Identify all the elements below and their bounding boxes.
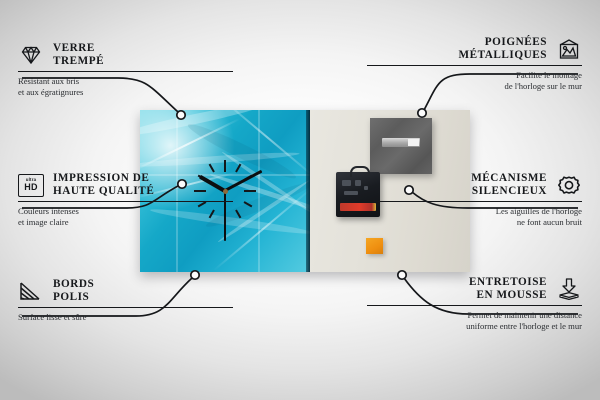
feature-print: ultra HD IMPRESSION DEHAUTE QUALITÉ Coul… [18, 172, 233, 227]
feature-handles-rule [367, 65, 582, 66]
gear-icon [556, 173, 582, 197]
feature-mechanism-rule [367, 201, 582, 202]
feature-glass-desc: Résistant aux briset aux égratignures [18, 76, 233, 97]
feature-edges-desc: Surface lisse et sûre [18, 312, 233, 322]
metal-handle-swatch [370, 118, 432, 174]
feature-spacer-rule [367, 305, 582, 306]
metallic-handle [382, 138, 420, 147]
ultra-hd-icon: ultra HD [18, 173, 44, 197]
feature-mechanism-title: MÉCANISMESILENCIEUX [471, 172, 547, 198]
mechanism-detail [355, 180, 361, 186]
feature-spacer-desc: Permet de maintenir une distanceuniforme… [367, 310, 582, 331]
feature-mechanism: MÉCANISMESILENCIEUX Les aiguilles de l'h… [367, 172, 582, 227]
feature-edges-title: BORDSPOLIS [53, 278, 94, 304]
feature-edges-rule [18, 307, 233, 308]
diamond-icon [18, 43, 44, 67]
feature-print-title: IMPRESSION DEHAUTE QUALITÉ [53, 172, 154, 198]
feature-spacer: ENTRETOISEEN MOUSSE Permet de maintenir … [367, 276, 582, 331]
feature-handles-desc: Facilite le montagede l'horloge sur le m… [367, 70, 582, 91]
ultra-hd-badge: ultra HD [18, 174, 44, 197]
feature-handles-title: POIGNÉESMÉTALLIQUES [458, 36, 547, 62]
feature-glass-title: VERRETREMPÉ [53, 42, 104, 68]
polished-edge-icon [18, 279, 44, 303]
foam-spacer [366, 238, 383, 254]
arrow-down-layers-icon [556, 277, 582, 301]
infographic-canvas: VERRETREMPÉ Résistant aux briset aux égr… [0, 0, 600, 400]
feature-handles-header: POIGNÉESMÉTALLIQUES [367, 36, 582, 62]
mechanism-detail [342, 180, 351, 186]
mechanism-detail [344, 191, 358, 195]
feature-glass: VERRETREMPÉ Résistant aux briset aux égr… [18, 42, 233, 97]
feature-mechanism-header: MÉCANISMESILENCIEUX [367, 172, 582, 198]
feature-spacer-title: ENTRETOISEEN MOUSSE [469, 276, 547, 302]
feature-glass-header: VERRETREMPÉ [18, 42, 233, 68]
feature-glass-rule [18, 71, 233, 72]
feature-spacer-header: ENTRETOISEEN MOUSSE [367, 276, 582, 302]
feature-print-header: ultra HD IMPRESSION DEHAUTE QUALITÉ [18, 172, 233, 198]
feature-edges-header: BORDSPOLIS [18, 278, 233, 304]
feature-edges: BORDSPOLIS Surface lisse et sûre [18, 278, 233, 323]
feature-print-desc: Couleurs intenseset image claire [18, 206, 233, 227]
feature-print-rule [18, 201, 233, 202]
picture-frame-hanger-icon [556, 37, 582, 61]
feature-handles: POIGNÉESMÉTALLIQUES Facilite le montaged… [367, 36, 582, 91]
feature-mechanism-desc: Les aiguilles de l'horlogene font aucun … [367, 206, 582, 227]
ultra-hd-badge-main: HD [24, 183, 37, 192]
glass-reflection [258, 110, 260, 272]
